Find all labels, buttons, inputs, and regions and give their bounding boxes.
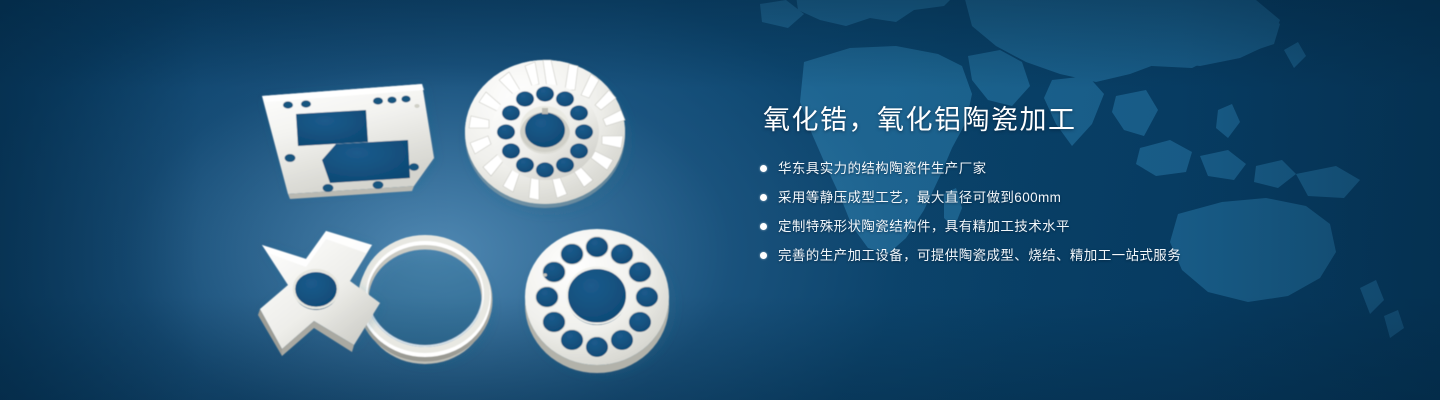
ceramic-flat-plate (262, 84, 436, 199)
list-item: 定制特殊形状陶瓷结构件，具有精加工技术水平 (760, 216, 1400, 237)
ceramic-cross-vane-plate (258, 231, 382, 356)
feature-text: 华东具实力的结构陶瓷件生产厂家 (778, 158, 987, 179)
feature-text: 采用等静压成型工艺，最大直径可做到600mm (778, 187, 1061, 208)
product-photo-group (0, 0, 720, 400)
feature-list: 华东具实力的结构陶瓷件生产厂家 采用等静压成型工艺，最大直径可做到600mm 定… (760, 158, 1400, 266)
bullet-dot-icon (760, 223, 767, 230)
feature-text: 完善的生产加工设备，可提供陶瓷成型、烧结、精加工一站式服务 (778, 245, 1181, 266)
list-item: 华东具实力的结构陶瓷件生产厂家 (760, 158, 1400, 179)
ceramic-ring (363, 238, 493, 366)
list-item: 采用等静压成型工艺，最大直径可做到600mm (760, 187, 1400, 208)
list-item: 完善的生产加工设备，可提供陶瓷成型、烧结、精加工一站式服务 (760, 245, 1400, 266)
bullet-dot-icon (760, 252, 767, 259)
bullet-dot-icon (760, 194, 767, 201)
bullet-dot-icon (760, 165, 767, 172)
feature-text: 定制特殊形状陶瓷结构件，具有精加工技术水平 (778, 216, 1070, 237)
ceramic-perforated-disc (525, 229, 675, 375)
banner-text-column: 氧化锆，氧化铝陶瓷加工 华东具实力的结构陶瓷件生产厂家 采用等静压成型工艺，最大… (760, 104, 1400, 274)
page-title: 氧化锆，氧化铝陶瓷加工 (763, 104, 1400, 136)
ceramic-impeller-disc (465, 60, 631, 214)
hero-banner: 氧化锆，氧化铝陶瓷加工 华东具实力的结构陶瓷件生产厂家 采用等静压成型工艺，最大… (0, 0, 1440, 400)
